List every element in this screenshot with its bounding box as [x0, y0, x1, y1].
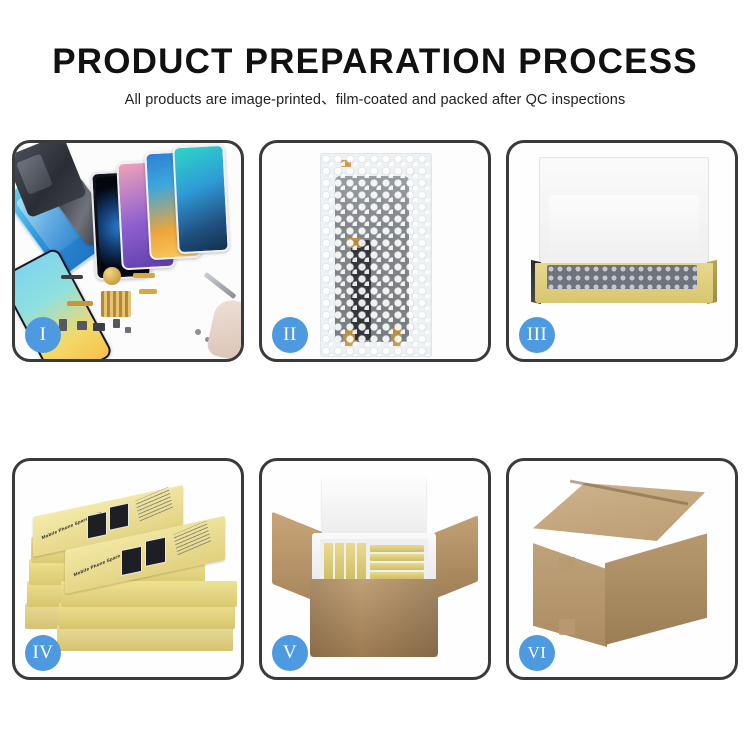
hand-icon	[205, 297, 241, 359]
process-step-5: V	[259, 458, 491, 680]
process-step-6: VI	[506, 458, 738, 680]
process-step-2: II	[259, 140, 491, 362]
process-step-grid: I II	[12, 140, 738, 685]
tape-icon	[559, 619, 575, 635]
step-badge-4: IV	[25, 635, 61, 671]
small-part-icon	[77, 321, 87, 330]
process-step-1: I	[12, 140, 244, 362]
flex-cable-icon	[133, 273, 155, 278]
product-preparation-infographic: PRODUCT PREPARATION PROCESS All products…	[0, 0, 750, 750]
small-part-icon	[61, 275, 83, 279]
process-step-3: III	[506, 140, 738, 362]
foam-lid-icon	[322, 477, 426, 539]
phone-screen-icon	[172, 144, 230, 255]
screw-icon	[125, 327, 131, 333]
step-badge-5: V	[272, 635, 308, 671]
step-badge-6: VI	[519, 635, 555, 671]
connector-grid-icon	[101, 291, 131, 317]
flex-cable-icon	[67, 301, 93, 306]
foam-box-interior	[320, 539, 428, 583]
page-subtitle: All products are image-printed、film-coat…	[0, 88, 750, 109]
spec-text-block	[135, 487, 173, 522]
flex-cable-icon	[139, 289, 157, 294]
step-badge-1: I	[25, 317, 61, 353]
product-image-icon	[87, 511, 107, 539]
tape-icon	[559, 557, 575, 573]
product-image-icon	[109, 503, 129, 531]
yellow-box-item	[370, 563, 424, 570]
yellow-box-item	[346, 543, 355, 581]
yellow-box-item	[324, 543, 333, 581]
carton-body-icon	[310, 579, 438, 657]
step-badge-2: II	[272, 317, 308, 353]
small-part-icon	[93, 323, 105, 331]
screwdriver-icon	[203, 272, 236, 299]
product-image-icon	[121, 546, 142, 576]
yellow-box-item	[335, 543, 344, 581]
small-part-icon	[113, 319, 120, 328]
yellow-box-item	[370, 572, 424, 579]
product-image-icon	[145, 537, 166, 567]
page-title: PRODUCT PREPARATION PROCESS	[0, 42, 750, 82]
bubble-wrap-bag-icon	[320, 153, 432, 357]
step-badge-3: III	[519, 317, 555, 353]
yellow-box-item	[370, 554, 424, 561]
yellow-box-item	[357, 543, 366, 581]
screw-icon	[195, 329, 201, 335]
bubble-wrap-layer-icon	[547, 265, 697, 289]
bubble-texture	[321, 154, 431, 356]
foam-sheet-icon	[549, 195, 699, 267]
speaker-part-icon	[103, 267, 121, 285]
yellow-box-item	[370, 545, 424, 552]
spec-text-block	[173, 521, 211, 556]
process-step-4: Mobile Phone Spare Parts Mobile Phone Sp…	[12, 458, 244, 680]
